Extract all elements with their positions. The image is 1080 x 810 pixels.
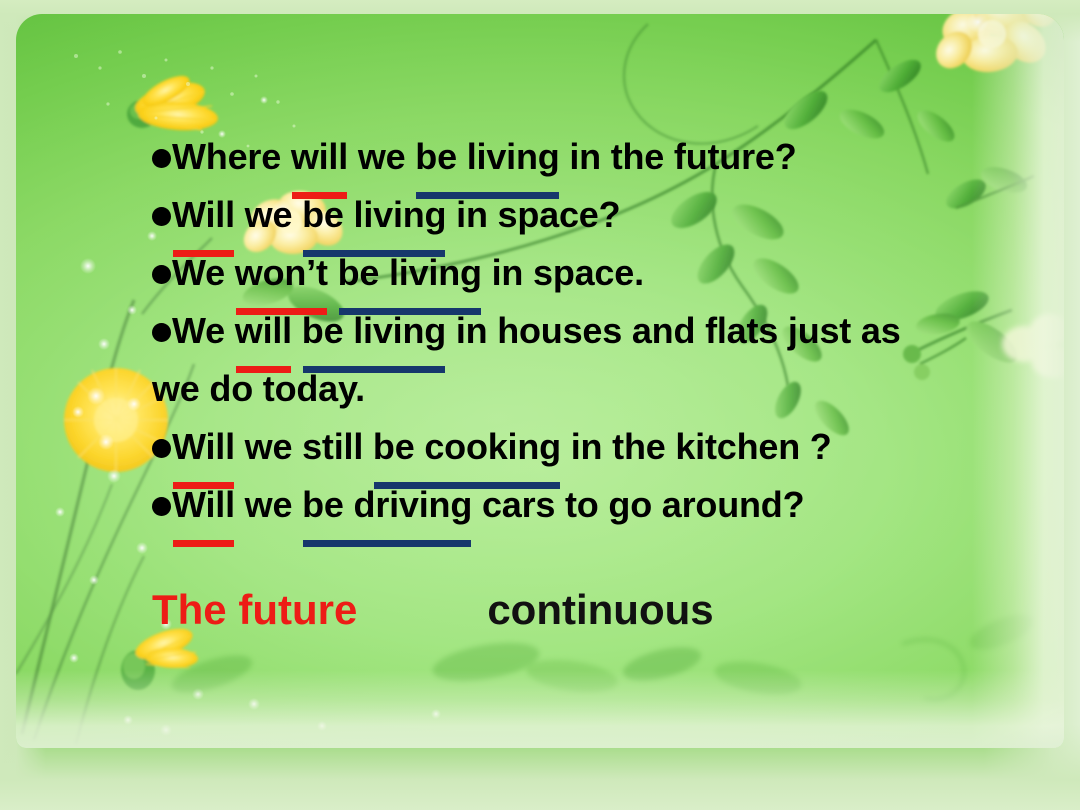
list-item: We will be living in houses and flats ju… xyxy=(152,302,952,418)
bullet-5-seg-1: we still xyxy=(235,426,373,467)
list-item: Where will we be living in the future? xyxy=(152,128,952,186)
bullet-1-seg-3: we xyxy=(358,136,415,177)
bullet-3-seg-0: We xyxy=(172,252,235,293)
slide-canvas: Where will we be living in the future? W… xyxy=(0,0,1080,810)
bullet-5-seg-3: in the kitchen ? xyxy=(561,426,832,467)
list-item: Will we be living in space? xyxy=(152,186,952,244)
bullet-dot-icon xyxy=(152,207,171,226)
bullet-6-seg-0-underline-red: Will xyxy=(172,476,235,534)
bullet-1-seg-4-underline-blue: be living xyxy=(415,128,559,186)
slide-content: Where will we be living in the future? W… xyxy=(0,0,1080,810)
footer-phrase: The futurecontinuous xyxy=(152,586,714,634)
bullet-list: Where will we be living in the future? W… xyxy=(152,128,952,534)
bullet-3-seg-2 xyxy=(328,252,338,293)
bullet-4-seg-2 xyxy=(292,310,302,351)
bullet-1-seg-0: Where xyxy=(172,136,291,177)
bullet-6-seg-3: cars to go around? xyxy=(472,484,804,525)
list-item: Will we be driving cars to go around? xyxy=(152,476,952,534)
bullet-3-seg-3-underline-blue: be living xyxy=(338,244,482,302)
bullet-6-seg-2-underline-blue: be driving xyxy=(302,476,472,534)
bullet-4-seg-3-underline-blue: be living xyxy=(302,302,446,360)
bullet-5-seg-0-underline-red: Will xyxy=(172,418,235,476)
bullet-3-seg-1-underline-red: won’t xyxy=(235,244,328,302)
bullet-6-seg-1: we xyxy=(235,484,302,525)
bullet-1-seg-5: in the future? xyxy=(560,136,797,177)
bullet-2-seg-0-underline-red: Will xyxy=(172,186,235,244)
bullet-1-seg-2 xyxy=(348,136,358,177)
bullet-dot-icon xyxy=(152,149,171,168)
bullet-dot-icon xyxy=(152,439,171,458)
bullet-1-seg-1-underline-red: will xyxy=(291,128,348,186)
bullet-2-seg-3: in space? xyxy=(446,194,620,235)
list-item: We won’t be living in space. xyxy=(152,244,952,302)
bullet-dot-icon xyxy=(152,497,171,516)
footer-phrase-black-text: continuous xyxy=(487,586,713,634)
bullet-dot-icon xyxy=(152,323,171,342)
bullet-dot-icon xyxy=(152,265,171,284)
list-item: Will we still be cooking in the kitchen … xyxy=(152,418,952,476)
bullet-5-seg-2-underline-blue: be cooking xyxy=(373,418,561,476)
bullet-2-seg-2-underline-blue: be living xyxy=(302,186,446,244)
bullet-4-seg-1-underline-red: will xyxy=(235,302,292,360)
bullet-3-seg-4: in space. xyxy=(482,252,644,293)
footer-phrase-red-text: The future xyxy=(152,586,357,634)
bullet-2-seg-1: we xyxy=(235,194,302,235)
bullet-4-seg-0: We xyxy=(172,310,235,351)
